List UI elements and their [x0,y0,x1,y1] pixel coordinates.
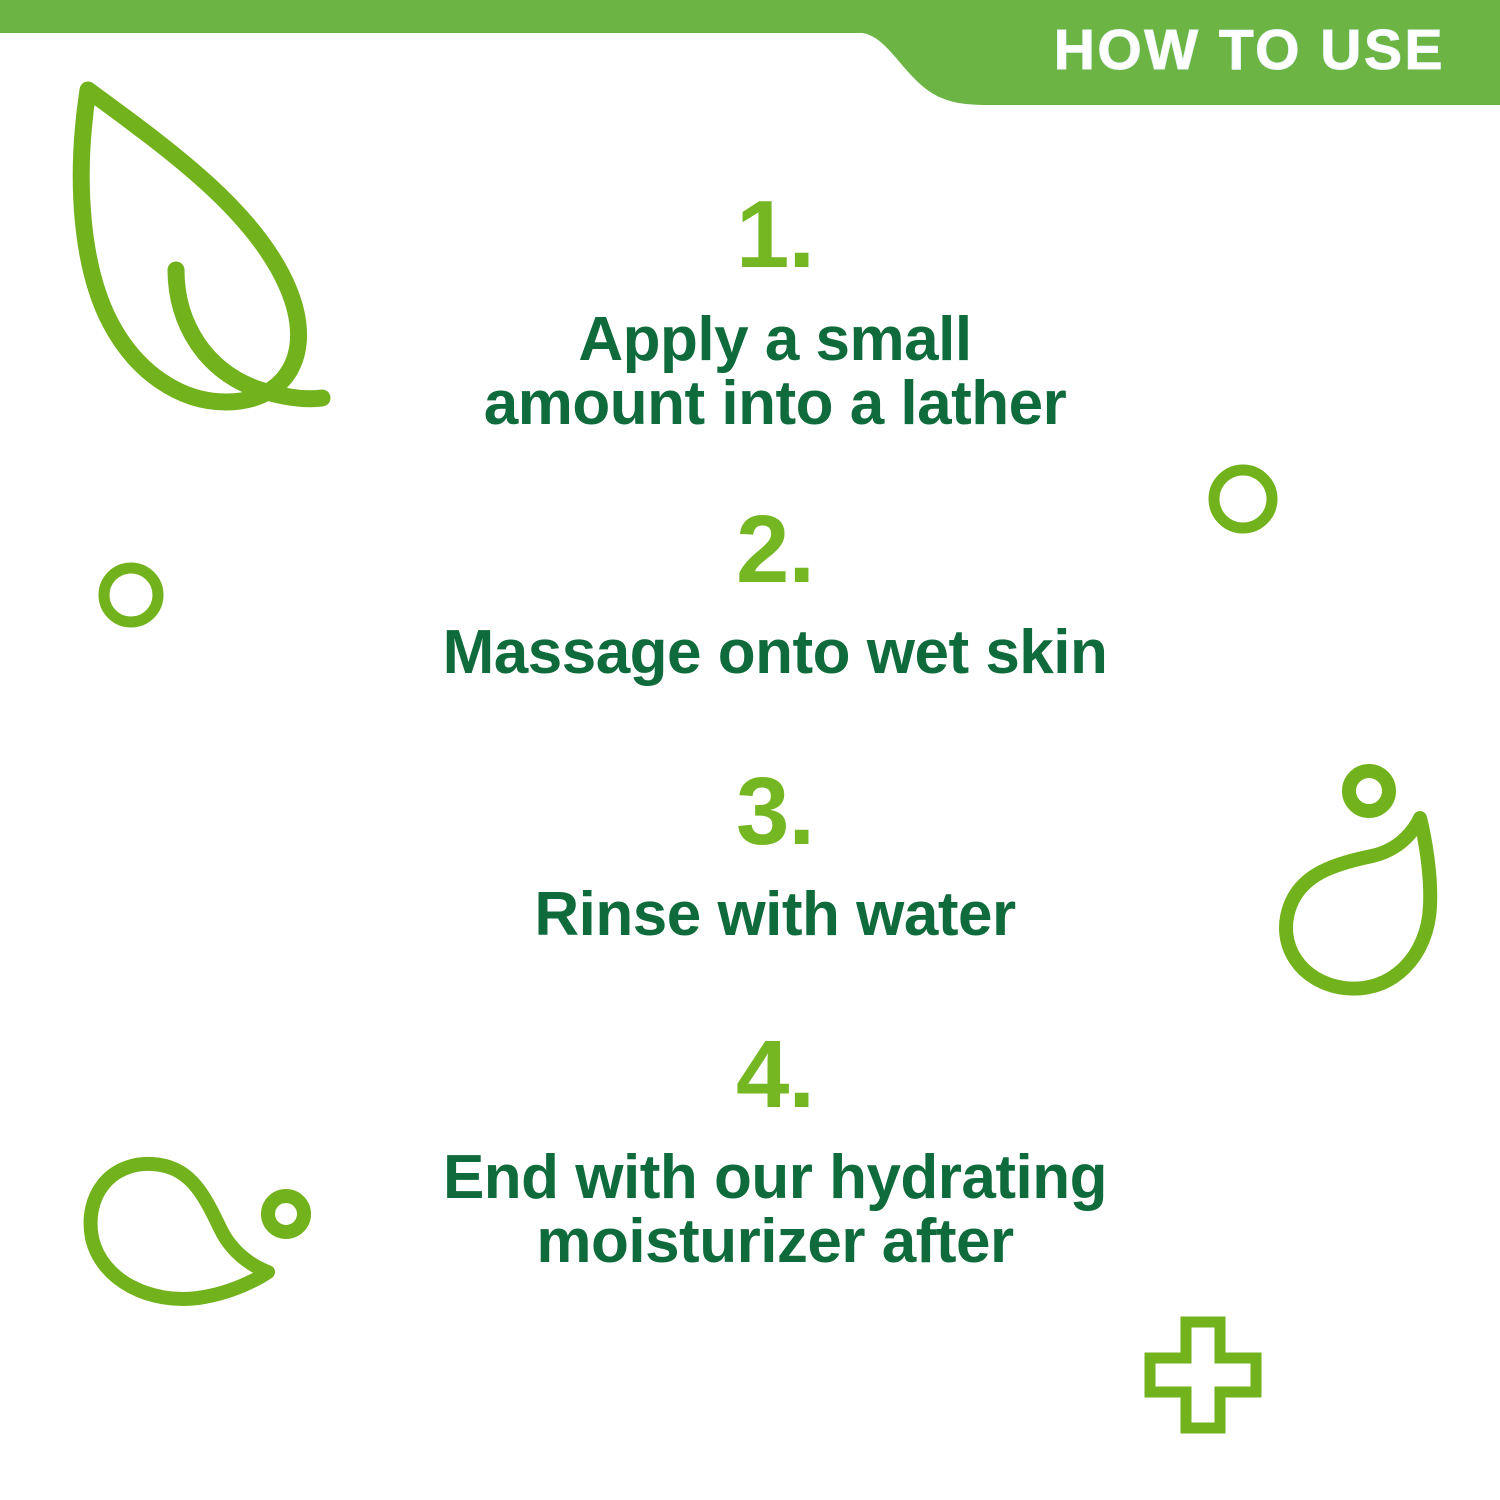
step-item-3: 3. Rinse with water [300,763,1250,947]
step-text-1: Apply a small amount into a lather [300,308,1250,437]
step-number-3: 3. [300,763,1250,861]
step-item-2: 2. Massage onto wet skin [300,501,1250,685]
leaf-droplet-icon [1268,756,1468,1006]
step-item-1: 1. Apply a small amount into a lather [300,186,1250,437]
leaf-outline-icon [48,72,338,422]
circle-outline-icon [92,556,170,634]
plus-cross-icon [1146,1318,1260,1432]
step-text-3: Rinse with water [300,883,1250,947]
leaf-outline-icon [82,1152,322,1322]
page-title: HOW TO USE [1054,22,1445,79]
how-to-use-infographic: HOW TO USE 1. Apply a small amount into … [0,0,1500,1500]
step-text-4: End with our hydrating moisturizer after [300,1146,1250,1275]
steps-list: 1. Apply a small amount into a lather 2.… [300,130,1250,1274]
step-item-4: 4. End with our hydrating moisturizer af… [300,1026,1250,1275]
step-number-4: 4. [300,1026,1250,1124]
step-number-2: 2. [300,501,1250,599]
step-number-1: 1. [300,186,1250,284]
step-text-2: Massage onto wet skin [300,621,1250,685]
